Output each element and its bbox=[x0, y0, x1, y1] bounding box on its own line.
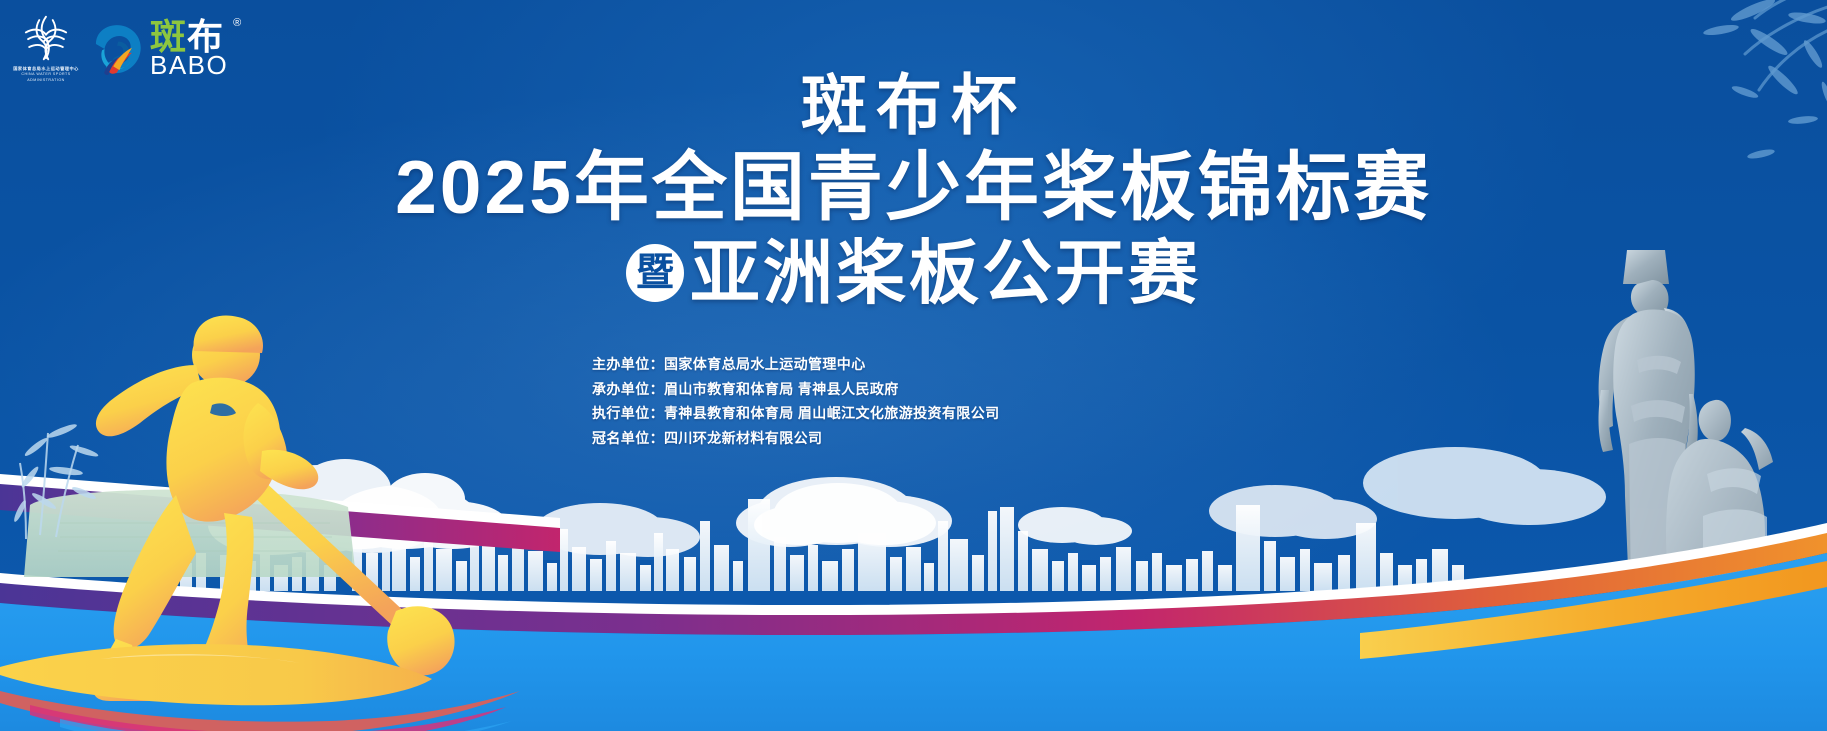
organizer-value-0: 国家体育总局水上运动管理中心 bbox=[664, 356, 866, 372]
babo-wordmark: 斑布 BABO ® bbox=[150, 20, 228, 77]
babo-logo: 斑布 BABO ® bbox=[86, 16, 228, 82]
babo-cn-text: 斑布 bbox=[150, 20, 228, 53]
babo-swirl-icon bbox=[86, 16, 148, 82]
ji-badge: 暨 bbox=[626, 244, 684, 302]
organizer-value-1: 眉山市教育和体育局 青神县人民政府 bbox=[664, 381, 899, 397]
cwsa-en-line2: ADMINISTRATION bbox=[27, 78, 64, 82]
organizer-row-0: 主办单位：国家体育总局水上运动管理中心 bbox=[592, 352, 1000, 377]
organizer-row-2: 执行单位：青神县教育和体育局 眉山岷江文化旅游投资有限公司 bbox=[592, 401, 1000, 426]
organizer-label-0: 主办单位： bbox=[592, 356, 664, 372]
title-line-3-text: 亚洲桨板公开赛 bbox=[690, 232, 1201, 315]
cwsa-en-line1: CHINA WATER SPORTS bbox=[21, 72, 70, 76]
organizer-label-1: 承办单位： bbox=[592, 381, 664, 397]
babo-en-text: BABO bbox=[150, 54, 228, 78]
cwsa-emblem-icon bbox=[18, 10, 74, 66]
organizer-list: 主办单位：国家体育总局水上运动管理中心 承办单位：眉山市教育和体育局 青神县人民… bbox=[592, 352, 1000, 450]
paddleboard-athlete bbox=[0, 255, 520, 731]
title-line-2: 2025年全国青少年桨板锦标赛 bbox=[0, 142, 1827, 234]
logo-bar: 国家体育总局水上运动管理中心 CHINA WATER SPORTS ADMINI… bbox=[14, 10, 228, 88]
title-line-1: 斑布杯 bbox=[0, 72, 1827, 138]
organizer-value-2: 青神县教育和体育局 眉山岷江文化旅游投资有限公司 bbox=[664, 405, 1000, 421]
poster-canvas: 国家体育总局水上运动管理中心 CHINA WATER SPORTS ADMINI… bbox=[0, 0, 1827, 731]
cwsa-cn-text: 国家体育总局水上运动管理中心 bbox=[13, 66, 79, 71]
organizer-label-2: 执行单位： bbox=[592, 405, 664, 421]
registered-trademark-icon: ® bbox=[233, 18, 241, 28]
event-title-block: 斑布杯 2025年全国青少年桨板锦标赛 暨 亚洲桨板公开赛 bbox=[0, 72, 1827, 314]
title-line-3: 暨 亚洲桨板公开赛 bbox=[0, 232, 1827, 315]
organizer-row-3: 冠名单位：四川环龙新材料有限公司 bbox=[592, 426, 1000, 451]
organizer-row-1: 承办单位：眉山市教育和体育局 青神县人民政府 bbox=[592, 377, 1000, 402]
organizer-value-3: 四川环龙新材料有限公司 bbox=[664, 430, 822, 446]
cwsa-logo: 国家体育总局水上运动管理中心 CHINA WATER SPORTS ADMINI… bbox=[14, 10, 78, 88]
organizer-label-3: 冠名单位： bbox=[592, 430, 664, 446]
